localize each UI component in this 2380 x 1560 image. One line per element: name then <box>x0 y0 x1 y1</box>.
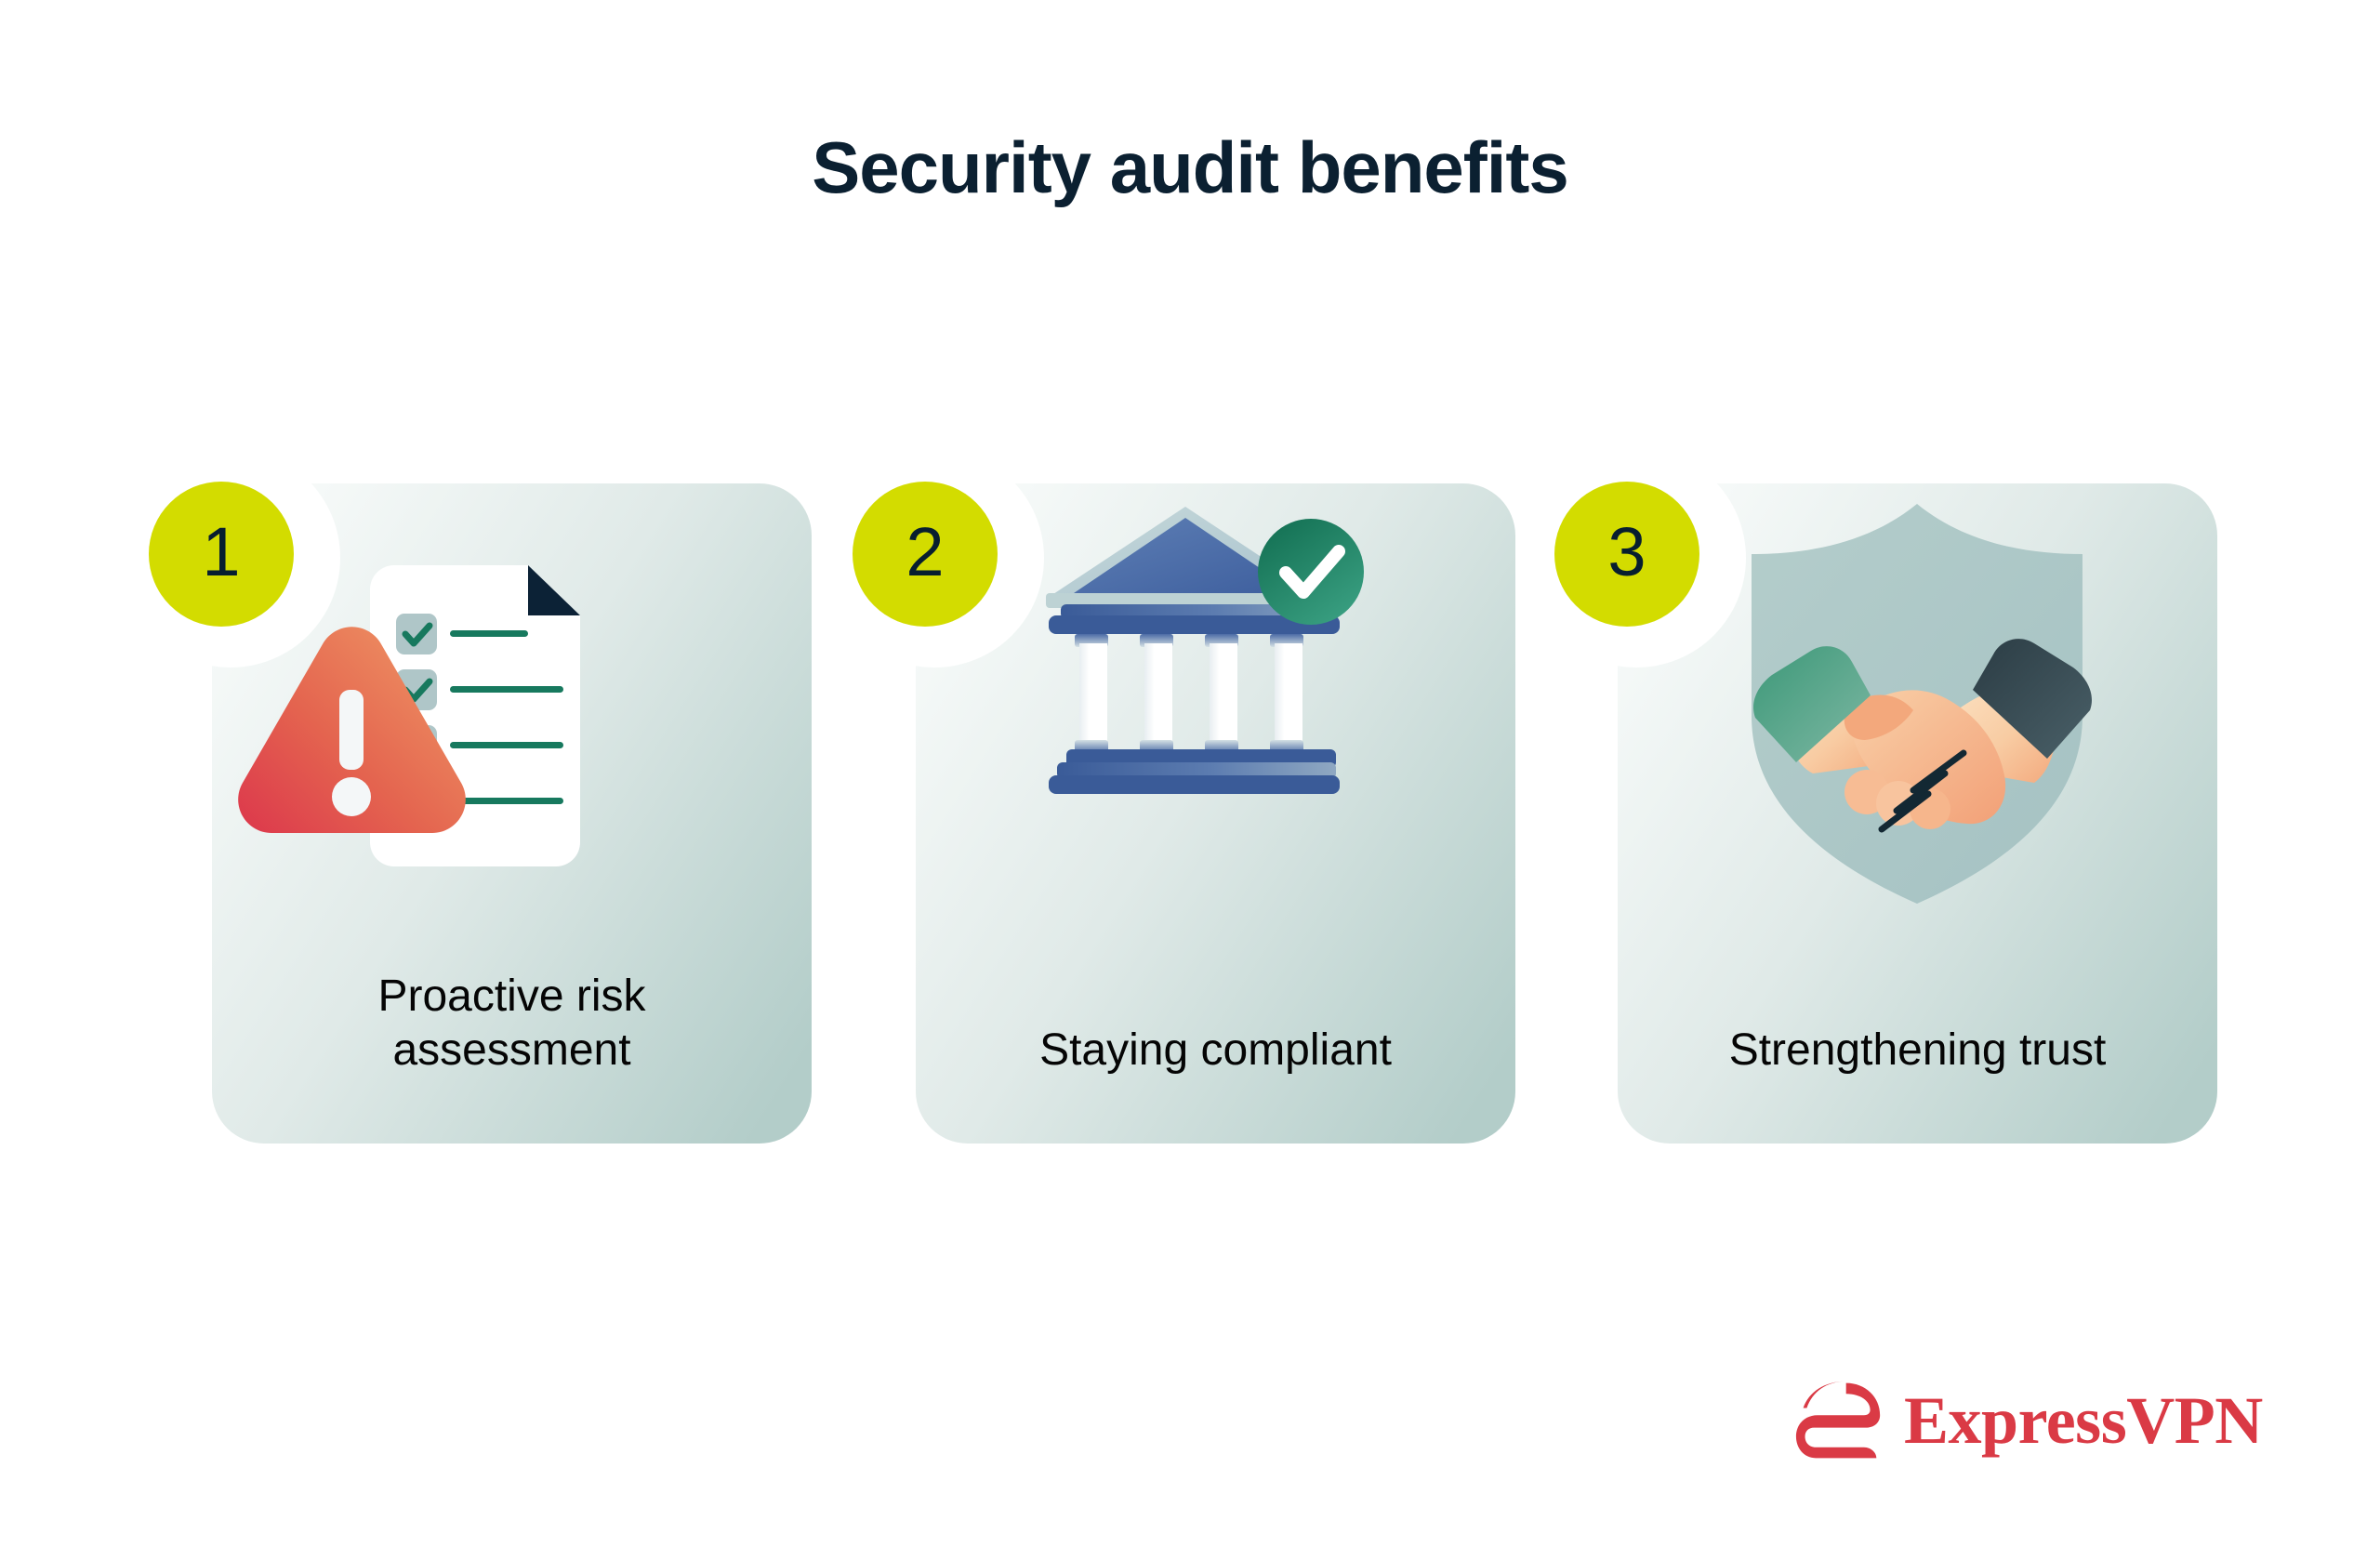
step-badge-1: 1 <box>149 482 294 627</box>
benefit-label-2: Staying compliant <box>960 1024 1471 1078</box>
bank-columns <box>1075 634 1303 753</box>
expressvpn-logo: ExpressVPN <box>1794 1376 2263 1465</box>
bank-steps <box>1049 749 1340 794</box>
government-building-with-check-icon <box>916 483 1515 920</box>
expressvpn-logo-mark <box>1794 1376 1884 1465</box>
brand-wordmark: ExpressVPN <box>1904 1387 2263 1454</box>
benefit-card-3[interactable]: 3 <box>1618 483 2217 1144</box>
step-badge-3: 3 <box>1554 482 1699 627</box>
green-check-badge-icon <box>1258 519 1364 625</box>
step-number-3: 3 <box>1607 518 1646 587</box>
document-fold-corner <box>528 565 580 615</box>
step-number-2: 2 <box>906 518 944 587</box>
benefits-card-row: 1 <box>0 0 2380 1560</box>
exclamation-bar <box>339 690 364 770</box>
step-badge-2: 2 <box>853 482 998 627</box>
benefit-card-1[interactable]: 1 <box>212 483 812 1144</box>
exclamation-dot <box>332 777 371 816</box>
benefit-label-3: Strengthening trust <box>1662 1024 2173 1078</box>
step-number-1: 1 <box>202 518 240 587</box>
benefit-card-2[interactable]: 2 <box>916 483 1515 1144</box>
warning-triangle-with-checklist-icon <box>212 483 812 920</box>
benefit-label-1: Proactive risk assessment <box>257 970 767 1078</box>
shield-with-handshake-icon <box>1618 483 2217 920</box>
